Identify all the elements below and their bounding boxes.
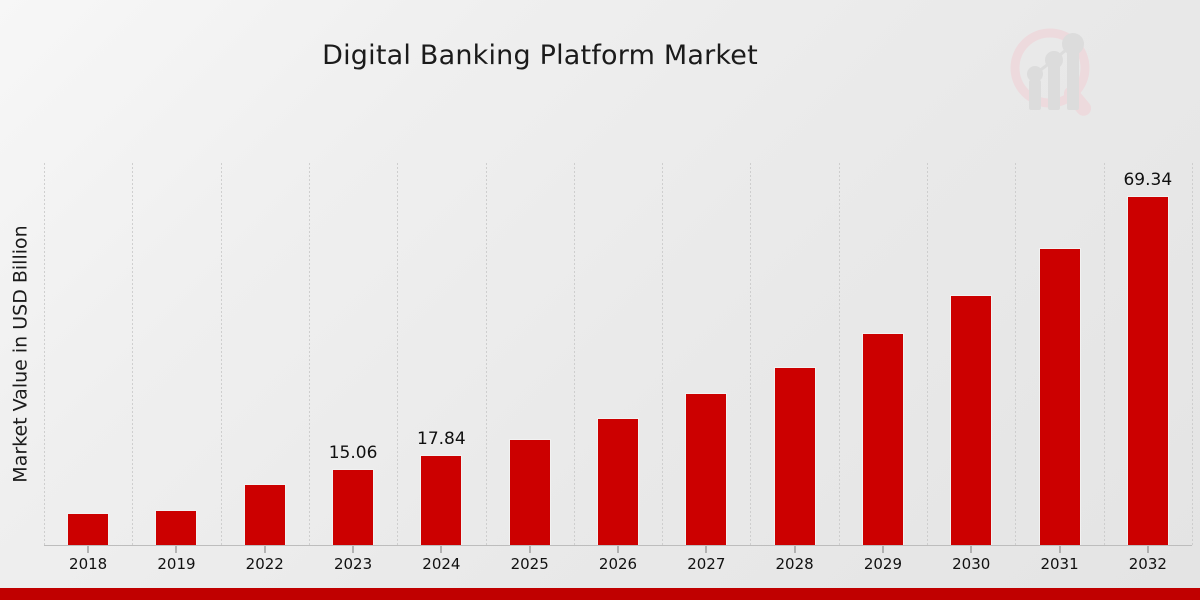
x-axis-tick-label: 2025 (511, 555, 549, 573)
bar-group[interactable] (44, 163, 132, 545)
bar-value-label: 15.06 (329, 443, 378, 463)
bar-group[interactable]: 15.06 (309, 163, 397, 545)
bar[interactable] (685, 393, 727, 545)
bar[interactable] (950, 295, 992, 545)
bar-group[interactable] (662, 163, 750, 545)
x-axis-tick (706, 546, 707, 553)
bar[interactable] (509, 439, 551, 545)
bar-group[interactable] (486, 163, 574, 545)
bar-group[interactable] (132, 163, 220, 545)
x-axis-tick (971, 546, 972, 553)
page-title: Digital Banking Platform Market (0, 40, 1080, 71)
bar-group[interactable] (927, 163, 1015, 545)
x-axis-tick (88, 546, 89, 553)
bar-value-label: 17.84 (417, 429, 466, 449)
bar[interactable] (67, 513, 109, 545)
bar-group[interactable] (574, 163, 662, 545)
bar-group[interactable] (1015, 163, 1103, 545)
gridline (1192, 163, 1193, 545)
bar-group[interactable] (839, 163, 927, 545)
bar[interactable] (597, 418, 639, 545)
chart-page: Digital Banking Platform Market Market V… (0, 0, 1200, 600)
bar[interactable] (155, 510, 197, 545)
bar[interactable] (420, 455, 462, 545)
x-axis-tick-label: 2022 (246, 555, 284, 573)
bar[interactable] (244, 484, 286, 545)
x-axis-tick (618, 546, 619, 553)
x-axis-tick (1059, 546, 1060, 553)
bar-group[interactable] (221, 163, 309, 545)
x-axis-tick-label: 2023 (334, 555, 372, 573)
x-axis-tick (176, 546, 177, 553)
x-axis-tick (441, 546, 442, 553)
x-axis-tick-label: 2026 (599, 555, 637, 573)
x-axis-tick (264, 546, 265, 553)
x-axis-tick-label: 2032 (1129, 555, 1167, 573)
bar[interactable] (774, 367, 816, 545)
bar[interactable] (1127, 196, 1169, 545)
bar-value-label: 69.34 (1123, 170, 1172, 190)
x-axis-tick-label: 2028 (776, 555, 814, 573)
x-axis-tick (794, 546, 795, 553)
x-axis-tick-labels: 2018201920222023202420252026202720282029… (44, 546, 1192, 580)
bar-series: 15.0617.8469.34 (44, 163, 1192, 545)
x-axis-tick (1147, 546, 1148, 553)
bar[interactable] (332, 469, 374, 545)
x-axis-tick-label: 2019 (157, 555, 195, 573)
x-axis-tick-label: 2018 (69, 555, 107, 573)
x-axis-tick-label: 2030 (952, 555, 990, 573)
x-axis-tick-label: 2029 (864, 555, 902, 573)
x-axis-tick-label: 2024 (422, 555, 460, 573)
bar[interactable] (1039, 248, 1081, 545)
plot-area: 15.0617.8469.34 (44, 163, 1192, 545)
footer-accent-bar (0, 588, 1200, 600)
y-axis-title-label: Market Value in USD Billion (10, 225, 32, 482)
y-axis-title: Market Value in USD Billion (4, 168, 38, 540)
magnifier-bar-chart-logo-icon (998, 22, 1108, 126)
bar-group[interactable]: 69.34 (1104, 163, 1192, 545)
bar-group[interactable]: 17.84 (397, 163, 485, 545)
bar-group[interactable] (750, 163, 838, 545)
x-axis-tick-label: 2031 (1040, 555, 1078, 573)
x-axis-tick (353, 546, 354, 553)
x-axis-tick (882, 546, 883, 553)
bar[interactable] (862, 333, 904, 545)
x-axis-tick (529, 546, 530, 553)
x-axis-tick-label: 2027 (687, 555, 725, 573)
